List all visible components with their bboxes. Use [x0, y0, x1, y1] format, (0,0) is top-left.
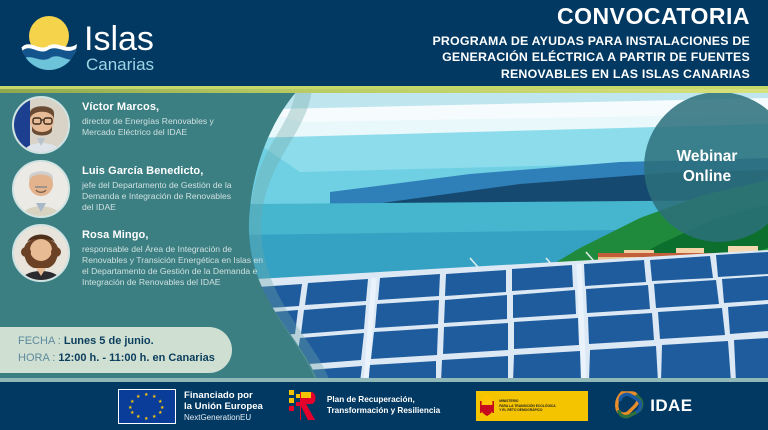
event-date-label: FECHA :	[18, 335, 61, 347]
eu-funding-text: Financiado por la Unión Europea NextGene…	[184, 390, 263, 423]
speaker-role-line: el Departamento de Gestión de la Demanda…	[82, 266, 263, 277]
idae-label: IDAE	[650, 396, 692, 416]
speakers-list: Víctor Marcos, director de Energías Reno…	[0, 96, 330, 294]
webinar-badge-line2: Online	[683, 167, 731, 187]
avatar	[12, 96, 70, 154]
ministry-text: MINISTERIO PARA LA TRANSICIÓN ECOLÓGICA …	[499, 399, 555, 413]
footer-ministry: MINISTERIO PARA LA TRANSICIÓN ECOLÓGICA …	[476, 391, 588, 421]
sun-sea-circle-icon	[21, 14, 77, 70]
idae-logo-icon	[614, 389, 644, 424]
eu-flag-icon: ★ ★ ★ ★ ★ ★ ★ ★ ★ ★ ★ ★	[118, 389, 176, 424]
footer-prtr: Plan de Recuperación, Transformación y R…	[289, 390, 440, 422]
speaker-name: Víctor Marcos,	[82, 101, 214, 114]
svg-text:Canarias: Canarias	[86, 55, 154, 74]
speaker-name: Rosa Mingo,	[82, 229, 263, 242]
speaker-item: Luis García Benedicto, jefe del Departam…	[0, 160, 330, 218]
ministry-line-3: Y EL RETO DEMOGRÁFICO	[499, 408, 555, 413]
lime-divider	[0, 85, 768, 92]
subtitle-line-1: PROGRAMA DE AYUDAS PARA INSTALACIONES DE	[320, 33, 750, 50]
spain-coat-of-arms-icon	[479, 395, 495, 417]
speaker-role-line: director de Energías Renovables y	[82, 116, 214, 127]
speaker-item: Rosa Mingo, responsable del Área de Inte…	[0, 224, 330, 288]
event-time-row: HORA : 12:00 h. - 11:00 h. en Canarias	[18, 352, 215, 364]
speaker-role-line: Renovables y Transición Energética en Is…	[82, 255, 263, 266]
speaker-text: Luis García Benedicto, jefe del Departam…	[82, 160, 232, 213]
speaker-item: Víctor Marcos, director de Energías Reno…	[0, 96, 330, 154]
event-time-value: 12:00 h. - 11:00 h. en Canarias	[58, 352, 215, 364]
speaker-role-line: Mercado Eléctrico del IDAE	[82, 127, 214, 138]
speaker-text: Rosa Mingo, responsable del Área de Inte…	[82, 224, 263, 288]
webinar-badge-line1: Webinar	[677, 147, 738, 167]
speaker-role-line: jefe del Departamento de Gestión de la	[82, 180, 232, 191]
avatar	[12, 224, 70, 282]
speaker-role-line: Demanda e Integración de Renovables	[82, 191, 232, 202]
ministry-logo-box: MINISTERIO PARA LA TRANSICIÓN ECOLÓGICA …	[476, 391, 588, 421]
prtr-logo-icon	[289, 390, 319, 422]
footer-idae: IDAE	[614, 389, 692, 424]
speaker-role-line: del IDAE	[82, 202, 232, 213]
event-date-value: Lunes 5 de junio.	[64, 335, 154, 347]
subtitle-line-3: RENOVABLES EN LAS ISLAS CANARIAS	[320, 66, 750, 83]
eu-line-1: Financiado por	[184, 390, 263, 401]
subtitle-line-2: GENERACIÓN ELÉCTRICA A PARTIR DE FUENTES	[320, 49, 750, 66]
event-time-label: HORA :	[18, 352, 55, 364]
title-block: CONVOCATORIA PROGRAMA DE AYUDAS PARA INS…	[320, 4, 750, 83]
poster-footer: ★ ★ ★ ★ ★ ★ ★ ★ ★ ★ ★ ★ Financiado por l…	[0, 382, 768, 430]
speaker-name: Luis García Benedicto,	[82, 165, 232, 178]
prtr-text: Plan de Recuperación, Transformación y R…	[327, 395, 440, 416]
eu-line-3: NextGenerationEU	[184, 413, 263, 422]
eu-line-2: la Unión Europea	[184, 401, 263, 412]
islas-canarias-logo: Islas Canarias	[14, 8, 204, 78]
page-title: CONVOCATORIA	[320, 4, 750, 30]
avatar	[12, 160, 70, 218]
footer-divider	[0, 378, 768, 382]
svg-text:Islas: Islas	[84, 20, 154, 58]
prtr-line-2: Transformación y Resiliencia	[327, 406, 440, 417]
speaker-role-line: responsable del Área de Integración de	[82, 244, 263, 255]
poster-header: Islas Canarias CONVOCATORIA PROGRAMA DE …	[0, 0, 768, 86]
webinar-poster: Webinar Online Islas Canarias	[0, 0, 768, 430]
prtr-line-1: Plan de Recuperación,	[327, 395, 440, 406]
speaker-text: Víctor Marcos, director de Energías Reno…	[82, 96, 214, 138]
speaker-role-line: Integración de Renovables del IDAE	[82, 277, 263, 288]
event-datetime-box: FECHA : Lunes 5 de junio. HORA : 12:00 h…	[0, 327, 232, 373]
event-date-row: FECHA : Lunes 5 de junio.	[18, 335, 154, 347]
footer-eu-funding: ★ ★ ★ ★ ★ ★ ★ ★ ★ ★ ★ ★ Financiado por l…	[118, 389, 263, 424]
